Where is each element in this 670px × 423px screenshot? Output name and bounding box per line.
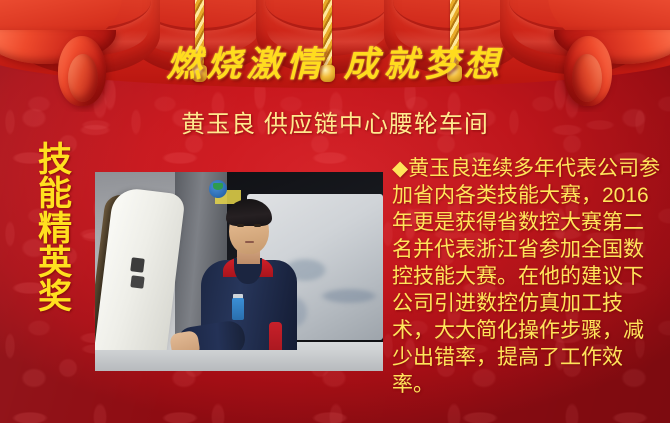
award-char: 技 [34,143,76,177]
award-vertical-label: 技 能 精 英 奖 [34,143,76,315]
poster-subtitle: 黄玉良 供应链中心腰轮车间 [0,104,670,139]
photo-floor-front [95,350,383,371]
photo-part-slot [130,275,144,288]
photo-id-badge [232,298,244,320]
page-title: 燃烧激情 成就梦想 [0,36,670,87]
photo-part-slot [130,257,145,272]
photo-person-eye-right [254,224,261,227]
award-char: 精 [34,212,76,246]
award-poster: 燃烧激情 成就梦想 黄玉良 供应链中心腰轮车间 技 能 精 英 奖 [0,0,670,423]
worker-portrait-photo [95,172,383,371]
photo-person-mouth [245,241,254,243]
photo-person-eye-left [237,224,244,227]
award-char: 能 [34,177,76,211]
award-char: 英 [34,246,76,280]
award-char: 奖 [34,280,76,314]
photo-blue-sticker [209,180,227,198]
award-description-text: ◆黄玉良连续多年代表公司参加省内各类技能大赛，2016年更是获得省数控大赛第二名… [392,155,664,398]
